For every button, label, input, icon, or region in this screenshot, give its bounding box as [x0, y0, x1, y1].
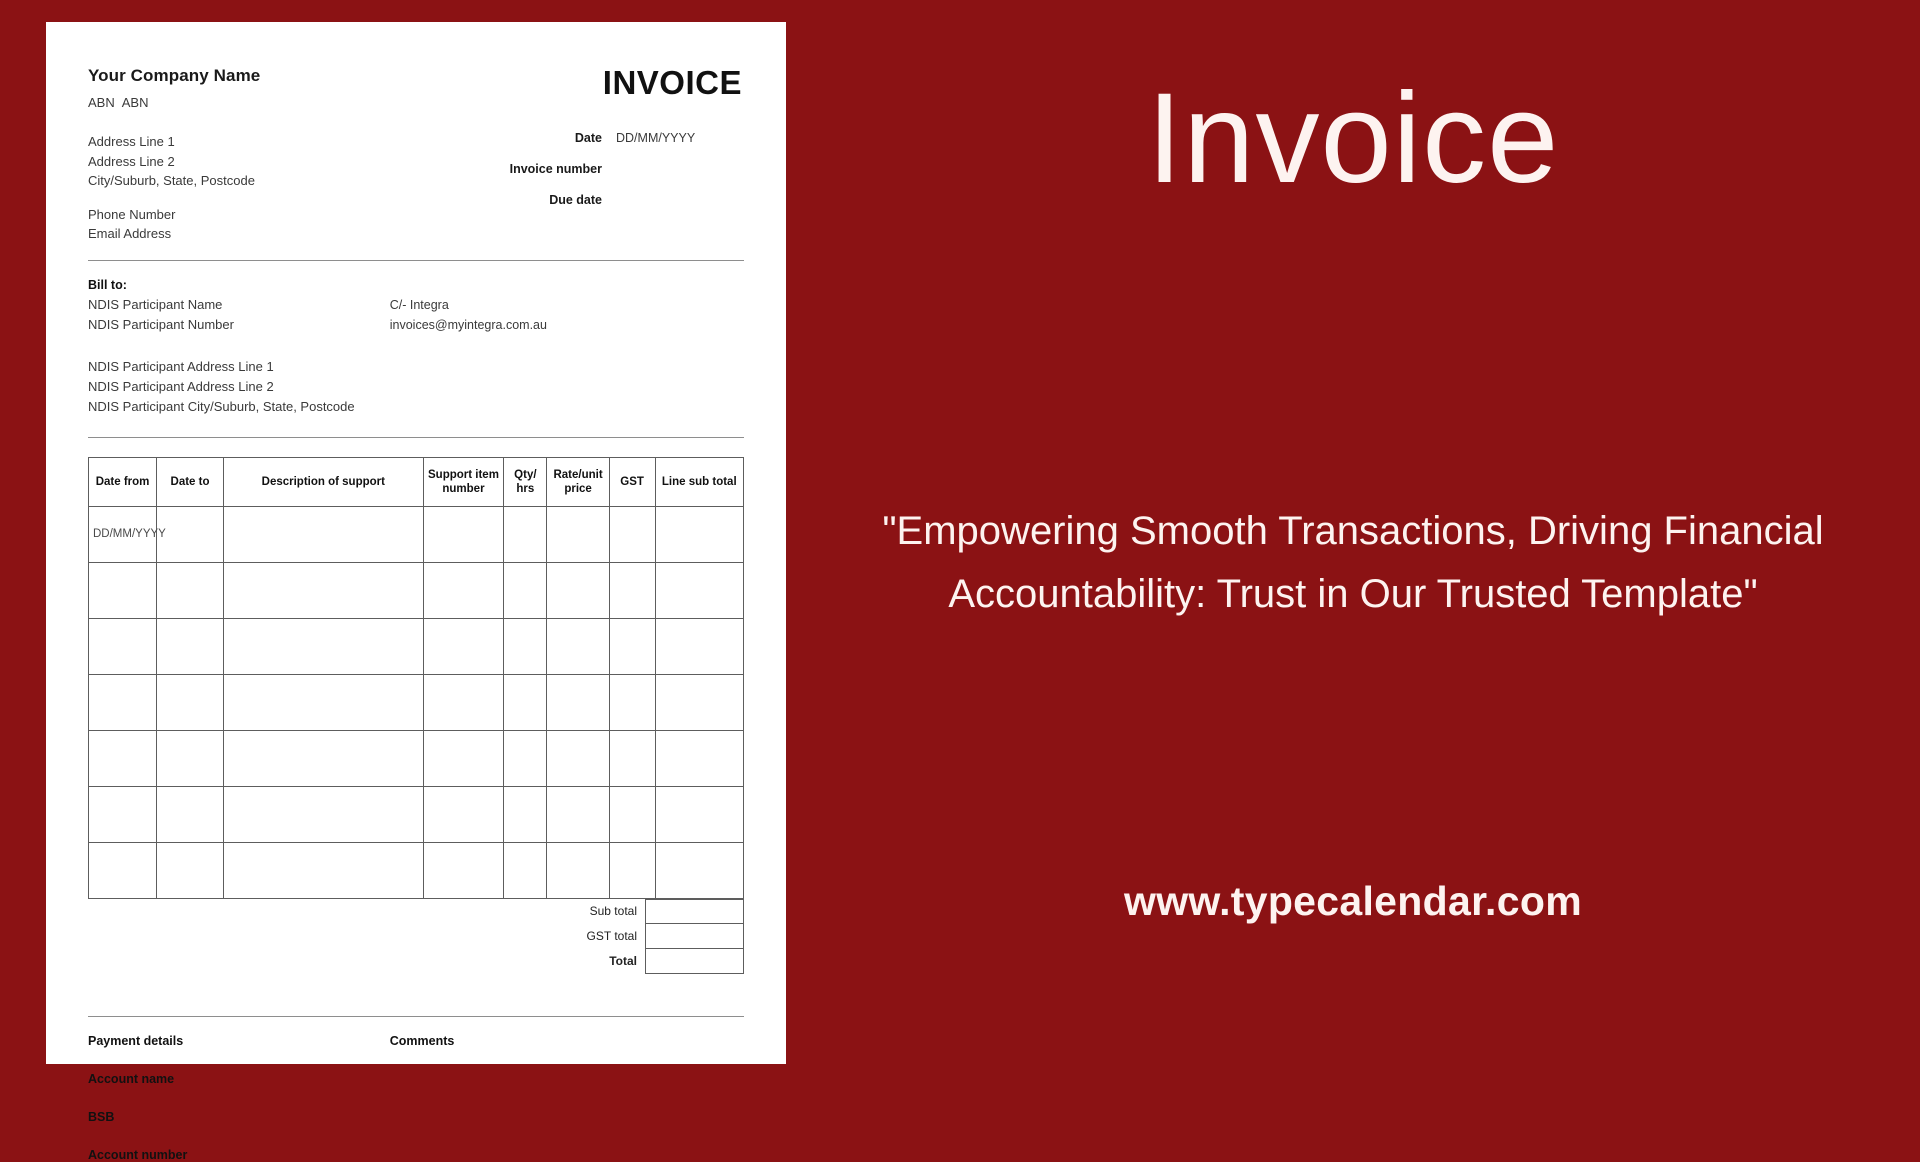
cell-gst[interactable] [609, 842, 655, 898]
table-row [89, 618, 744, 674]
invoice-title: INVOICE [468, 66, 742, 99]
col-header-line-sub-total: Line sub total [655, 457, 743, 506]
footer-divider [88, 1016, 744, 1017]
invoice-meta-block: INVOICE Date DD/MM/YYYY Invoice number D… [468, 66, 744, 224]
company-block: Your Company Name ABNABN Address Line 1 … [88, 66, 468, 244]
cell-line-sub-total[interactable] [655, 674, 743, 730]
cell-support-item[interactable] [423, 842, 504, 898]
totals-row-gst-total: GST total [517, 924, 744, 949]
meta-row-due-date: Due date [468, 193, 744, 207]
promo-tagline: "Empowering Smooth Transactions, Driving… [843, 500, 1863, 626]
cell-date-from[interactable]: DD/MM/YYYY [89, 506, 157, 562]
col-header-support-item-number: Support item number [423, 457, 504, 506]
care-of-block: C/- Integra invoices@myintegra.com.au [390, 278, 744, 335]
participant-address-block: NDIS Participant Address Line 1 NDIS Par… [88, 357, 744, 417]
sub-total-value[interactable] [645, 899, 744, 924]
line-items-table: Date from Date to Description of support… [88, 457, 744, 899]
abn-value: ABN [122, 95, 149, 110]
bsb-label: BSB [88, 1110, 390, 1124]
cell-qty[interactable] [504, 730, 547, 786]
cell-gst[interactable] [609, 786, 655, 842]
cell-rate[interactable] [547, 506, 609, 562]
promo-website-url[interactable]: www.typecalendar.com [786, 878, 1920, 925]
cell-date-from[interactable] [89, 730, 157, 786]
cell-gst[interactable] [609, 674, 655, 730]
care-of-line: C/- Integra [390, 295, 744, 315]
due-date-label: Due date [549, 193, 602, 207]
company-email: Email Address [88, 224, 468, 244]
cell-rate[interactable] [547, 786, 609, 842]
cell-date-from[interactable] [89, 562, 157, 618]
cell-support-item[interactable] [423, 730, 504, 786]
totals-row-total: Total [517, 949, 744, 974]
gst-total-value[interactable] [645, 924, 744, 949]
cell-date-to[interactable] [157, 786, 224, 842]
cell-qty[interactable] [504, 506, 547, 562]
cell-rate[interactable] [547, 618, 609, 674]
spacer [88, 191, 468, 205]
table-row: DD/MM/YYYY [89, 506, 744, 562]
cell-qty[interactable] [504, 842, 547, 898]
company-address-line-3: City/Suburb, State, Postcode [88, 171, 468, 191]
table-row [89, 730, 744, 786]
bill-to-left: Bill to: NDIS Participant Name NDIS Part… [88, 278, 390, 335]
company-address-line-2: Address Line 2 [88, 152, 468, 172]
meta-row-date: Date DD/MM/YYYY [468, 131, 744, 145]
cell-date-to[interactable] [157, 674, 224, 730]
col-header-date-from: Date from [89, 457, 157, 506]
table-header-row: Date from Date to Description of support… [89, 457, 744, 506]
bill-to-section: Bill to: NDIS Participant Name NDIS Part… [88, 278, 744, 335]
total-label: Total [517, 949, 645, 974]
col-header-gst: GST [609, 457, 655, 506]
bill-to-divider [88, 437, 744, 438]
col-header-rate-unit-price: Rate/unit price [547, 457, 609, 506]
sub-total-label: Sub total [517, 899, 645, 924]
cell-support-item[interactable] [423, 786, 504, 842]
participant-name: NDIS Participant Name [88, 295, 390, 315]
cell-description[interactable] [223, 506, 423, 562]
cell-date-to[interactable] [157, 618, 224, 674]
company-name: Your Company Name [88, 66, 468, 86]
cell-rate[interactable] [547, 674, 609, 730]
care-of-email: invoices@myintegra.com.au [390, 315, 744, 335]
participant-address-line-3: NDIS Participant City/Suburb, State, Pos… [88, 397, 744, 417]
cell-description[interactable] [223, 562, 423, 618]
cell-date-from[interactable] [89, 842, 157, 898]
cell-date-to[interactable] [157, 562, 224, 618]
account-number-label: Account number [88, 1148, 390, 1162]
cell-date-from[interactable] [89, 674, 157, 730]
participant-address-line-2: NDIS Participant Address Line 2 [88, 377, 744, 397]
header-divider [88, 260, 744, 261]
cell-gst[interactable] [609, 618, 655, 674]
cell-description[interactable] [223, 786, 423, 842]
cell-date-to[interactable] [157, 506, 224, 562]
participant-address-line-1: NDIS Participant Address Line 1 [88, 357, 744, 377]
participant-number: NDIS Participant Number [88, 315, 390, 335]
cell-date-from[interactable] [89, 618, 157, 674]
cell-line-sub-total[interactable] [655, 562, 743, 618]
cell-support-item[interactable] [423, 618, 504, 674]
total-value[interactable] [645, 949, 744, 974]
payment-details-section: Payment details Account name BSB Account… [88, 1034, 744, 1162]
abn-label: ABN [88, 95, 115, 110]
cell-line-sub-total[interactable] [655, 786, 743, 842]
cell-rate[interactable] [547, 730, 609, 786]
date-label: Date [575, 131, 602, 145]
abn-row: ABNABN [88, 95, 468, 110]
company-phone: Phone Number [88, 205, 468, 225]
table-row [89, 562, 744, 618]
cell-description[interactable] [223, 730, 423, 786]
account-name-label: Account name [88, 1072, 390, 1086]
gst-total-label: GST total [517, 924, 645, 949]
payment-details-left: Payment details Account name BSB Account… [88, 1034, 390, 1162]
col-header-date-to: Date to [157, 457, 224, 506]
comments-heading: Comments [390, 1034, 744, 1048]
totals-row-sub-total: Sub total [517, 899, 744, 924]
cell-qty[interactable] [504, 618, 547, 674]
invoice-header: Your Company Name ABNABN Address Line 1 … [88, 66, 744, 244]
cell-gst[interactable] [609, 562, 655, 618]
cell-gst[interactable] [609, 730, 655, 786]
cell-qty[interactable] [504, 562, 547, 618]
comments-block: Comments [390, 1034, 744, 1162]
bill-to-heading: Bill to: [88, 278, 390, 292]
totals-section: Sub total GST total Total [88, 899, 744, 974]
promo-title: Invoice [786, 75, 1920, 203]
cell-qty[interactable] [504, 674, 547, 730]
cell-description[interactable] [223, 842, 423, 898]
invoice-number-label: Invoice number [510, 162, 602, 176]
cell-support-item[interactable] [423, 562, 504, 618]
company-address-line-1: Address Line 1 [88, 132, 468, 152]
meta-row-invoice-number: Invoice number [468, 162, 744, 176]
cell-description[interactable] [223, 674, 423, 730]
cell-support-item[interactable] [423, 506, 504, 562]
cell-date-from[interactable] [89, 786, 157, 842]
table-row [89, 786, 744, 842]
cell-date-to[interactable] [157, 842, 224, 898]
cell-description[interactable] [223, 618, 423, 674]
cell-rate[interactable] [547, 562, 609, 618]
payment-details-heading: Payment details [88, 1034, 390, 1048]
cell-gst[interactable] [609, 506, 655, 562]
col-header-description: Description of support [223, 457, 423, 506]
date-value[interactable]: DD/MM/YYYY [602, 131, 744, 145]
col-header-qty-hrs: Qty/ hrs [504, 457, 547, 506]
table-row [89, 842, 744, 898]
cell-line-sub-total[interactable] [655, 506, 743, 562]
promo-panel: Invoice "Empowering Smooth Transactions,… [786, 0, 1920, 1080]
invoice-document-card: Your Company Name ABNABN Address Line 1 … [46, 22, 786, 1064]
cell-line-sub-total[interactable] [655, 842, 743, 898]
table-row [89, 674, 744, 730]
cell-support-item[interactable] [423, 674, 504, 730]
cell-date-to[interactable] [157, 730, 224, 786]
cell-line-sub-total[interactable] [655, 730, 743, 786]
cell-qty[interactable] [504, 786, 547, 842]
cell-rate[interactable] [547, 842, 609, 898]
cell-line-sub-total[interactable] [655, 618, 743, 674]
